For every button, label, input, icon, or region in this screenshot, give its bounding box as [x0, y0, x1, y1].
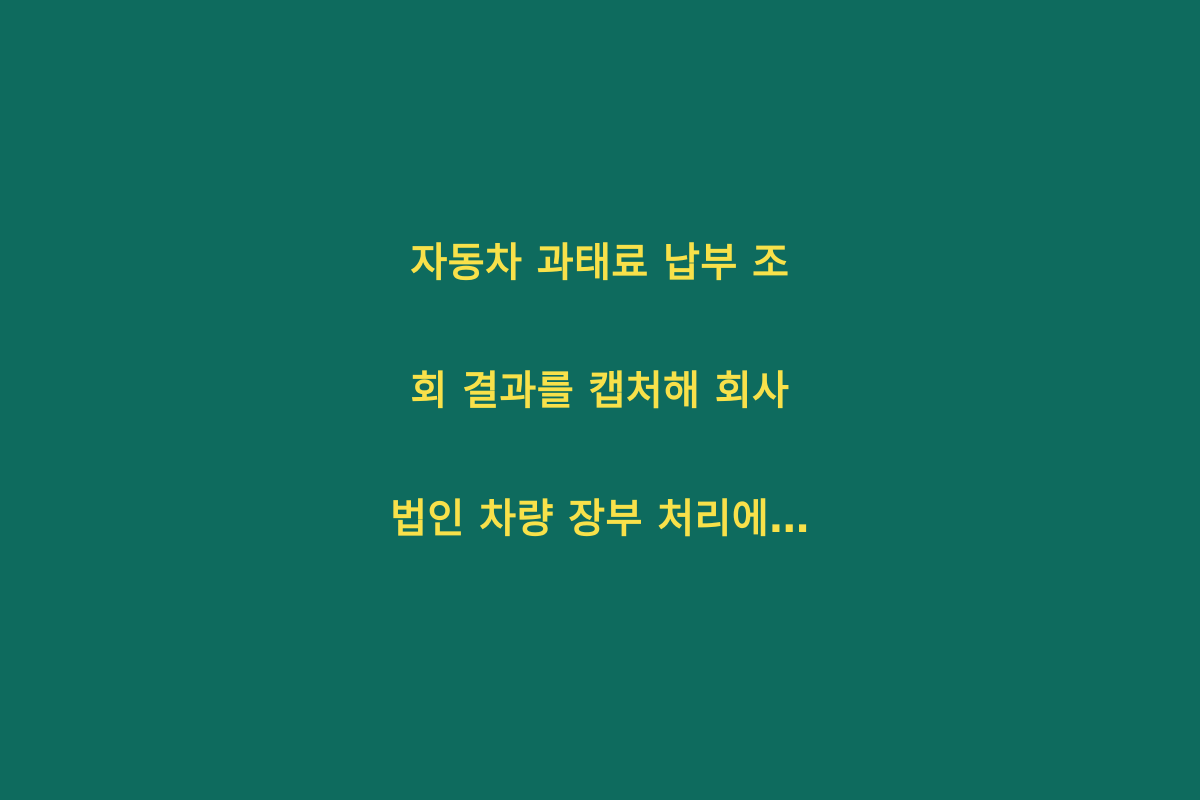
headline-block: 자동차 과태료 납부 조 회 결과를 캡처해 회사 법인 차량 장부 처리에…	[80, 199, 1120, 583]
headline-line-2: 회 결과를 캡처해 회사	[80, 327, 1120, 455]
headline-line-3: 법인 차량 장부 처리에…	[80, 455, 1120, 583]
headline-line-1: 자동차 과태료 납부 조	[80, 199, 1120, 327]
text-card: 자동차 과태료 납부 조 회 결과를 캡처해 회사 법인 차량 장부 처리에…	[0, 0, 1200, 800]
